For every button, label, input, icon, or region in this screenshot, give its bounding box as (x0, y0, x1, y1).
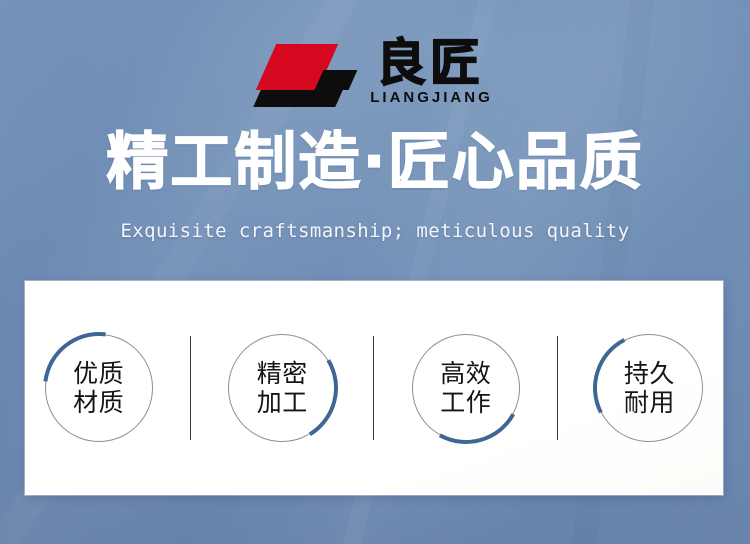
logo-black-base-icon (253, 90, 343, 107)
feature-divider (190, 336, 191, 440)
feature-label-line2: 加工 (257, 388, 308, 417)
page-subtitle: Exquisite craftsmanship; meticulous qual… (0, 218, 750, 244)
feature-label-line1: 优质 (73, 359, 124, 388)
feature-label-line2: 耐用 (624, 388, 675, 417)
feature-divider (373, 336, 374, 440)
product-banner: 良匠 LIANGJIANG 精工制造·匠心品质 Exquisite crafts… (0, 0, 750, 544)
feature-label: 优质材质 (73, 359, 124, 417)
feature-efficient-work: 高效工作 (410, 332, 522, 444)
page-title: 精工制造·匠心品质 (0, 126, 750, 198)
feature-panel: 优质材质 精密加工 高效工作 持久耐用 (25, 281, 723, 495)
feature-list: 优质材质 精密加工 高效工作 持久耐用 (25, 281, 723, 495)
logo-wordmark: 良匠 LIANGJIANG (367, 38, 493, 106)
feature-label: 精密加工 (257, 359, 308, 417)
brand-logo: 良匠 LIANGJIANG (0, 40, 750, 112)
feature-label-line1: 精密 (257, 359, 308, 388)
logo-black-dash-icon (315, 70, 358, 90)
logo-mark-icon (257, 44, 353, 106)
logo-chinese-name: 良匠 (376, 38, 484, 88)
feature-label: 高效工作 (440, 359, 491, 417)
feature-quality-material: 优质材质 (43, 332, 155, 444)
feature-precision-machining: 精密加工 (226, 332, 338, 444)
feature-label-line2: 工作 (440, 388, 491, 417)
feature-durable: 持久耐用 (593, 332, 705, 444)
feature-label-line1: 高效 (440, 359, 491, 388)
feature-label-line2: 材质 (73, 388, 124, 417)
logo-english-name: LIANGJIANG (370, 90, 493, 106)
feature-divider (557, 336, 558, 440)
feature-label-line1: 持久 (624, 359, 675, 388)
feature-label: 持久耐用 (624, 359, 675, 417)
